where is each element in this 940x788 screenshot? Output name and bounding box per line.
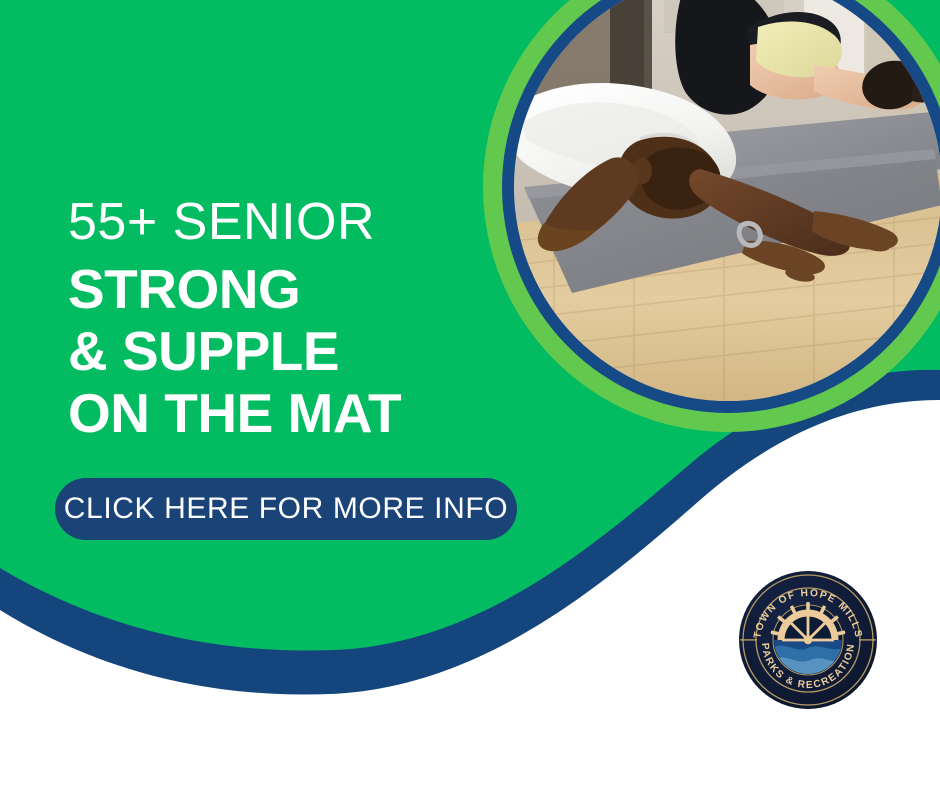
headline-line-1: STRONG — [68, 262, 498, 317]
yoga-photo — [514, 0, 940, 401]
photo-frame — [514, 0, 940, 401]
promo-banner: 55+ SENIOR STRONG & SUPPLE ON THE MAT CL… — [0, 0, 940, 788]
headline-line-3: ON THE MAT — [68, 386, 498, 441]
click-here-for-more-info-button[interactable]: CLICK HERE FOR MORE INFO — [55, 478, 517, 540]
town-of-hope-mills-parks-recreation-logo: TOWN OF HOPE MILLS PARKS & RECREATION — [738, 568, 878, 712]
headline-line-2: & SUPPLE — [68, 324, 498, 379]
copy-block: 55+ SENIOR STRONG & SUPPLE ON THE MAT — [68, 196, 498, 448]
logo-svg: TOWN OF HOPE MILLS PARKS & RECREATION — [738, 568, 878, 712]
eyebrow-text: 55+ SENIOR — [68, 196, 498, 248]
photo-circle — [483, 0, 940, 432]
